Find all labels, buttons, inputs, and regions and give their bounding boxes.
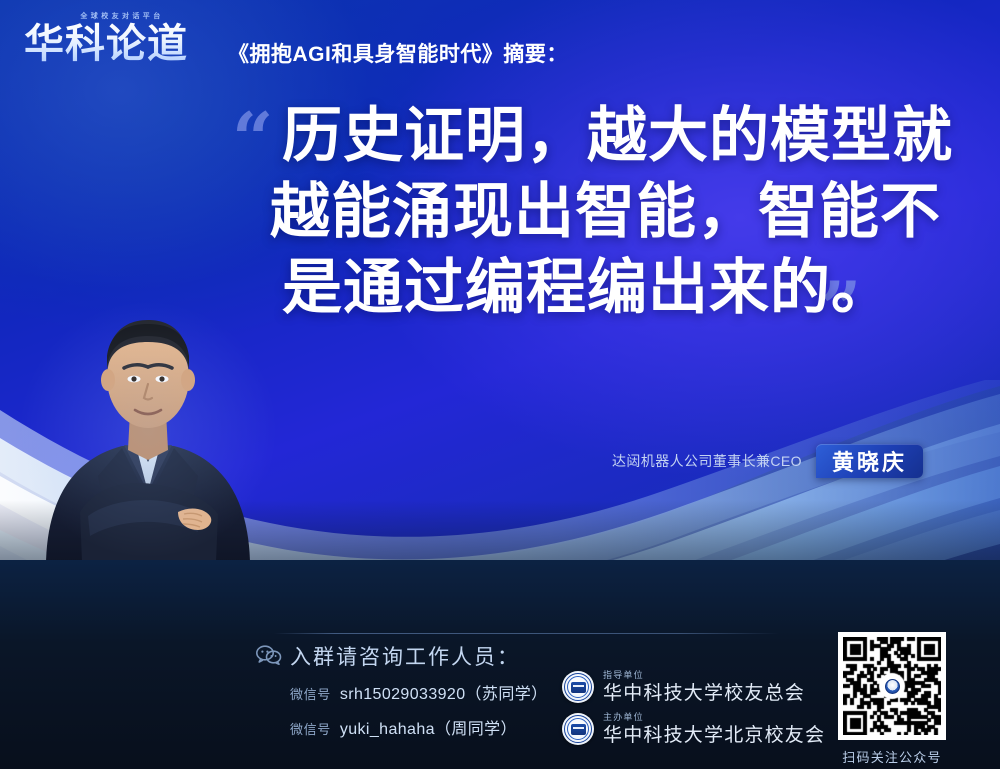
quote-line-2: 越能涌现出智能，智能不 bbox=[270, 174, 950, 250]
poster-root: 全球校友对话平台 华科论道 华科论道 《拥抱AGI和具身智能时代》摘要： “ ”… bbox=[0, 0, 1000, 769]
brand-logo[interactable]: 全球校友对话平台 华科论道 华科论道 bbox=[24, 11, 220, 73]
qr-section: 扫码关注公众号 bbox=[838, 632, 958, 766]
quote-open-mark: “ bbox=[232, 103, 273, 175]
wechat-entry-1: 微信号 srh15029033920（苏同学） bbox=[290, 680, 548, 704]
organizations: 指导单位 华中科技大学校友总会 主办单位 华中科技大学北京校友会 bbox=[562, 668, 825, 752]
hust-seal-icon bbox=[562, 713, 594, 745]
speaker-portrait bbox=[28, 300, 268, 560]
wechat-icon bbox=[256, 645, 282, 665]
qr-caption: 扫码关注公众号 bbox=[838, 747, 946, 766]
portrait-glow bbox=[8, 290, 288, 570]
qr-code[interactable] bbox=[838, 632, 946, 740]
organization-row: 指导单位 华中科技大学校友总会 bbox=[562, 668, 825, 706]
logo-text: 华科论道 bbox=[24, 21, 220, 67]
hust-seal-icon bbox=[562, 671, 594, 703]
page-title: 《拥抱AGI和具身智能时代》摘要： bbox=[228, 38, 568, 68]
wechat-entry-2: 微信号 yuki_hahaha（周同学） bbox=[290, 715, 517, 739]
qr-center-logo bbox=[881, 675, 903, 697]
wechat-label-1: 微信号 bbox=[290, 684, 331, 703]
speaker-name: 黄晓庆 bbox=[832, 445, 907, 477]
quote-line-1: 历史证明，越大的模型就 bbox=[282, 98, 950, 174]
footer-divider bbox=[274, 633, 779, 634]
organization-row: 主办单位 华中科技大学北京校友会 bbox=[562, 710, 825, 748]
speaker-name-badge: 黄晓庆 bbox=[816, 444, 923, 478]
logo-tagline: 全球校友对话平台 bbox=[80, 11, 163, 21]
wechat-label-2: 微信号 bbox=[290, 719, 331, 738]
organization-kind: 指导单位 bbox=[603, 669, 805, 681]
attribution: 达闼机器人公司董事长兼CEO 黄晓庆 bbox=[612, 444, 923, 478]
quote-block: 历史证明，越大的模型就 越能涌现出智能，智能不 是通过编程编出来的。 bbox=[270, 98, 950, 326]
organization-kind: 主办单位 bbox=[603, 711, 825, 723]
contact-heading: 入群请咨询工作人员： bbox=[290, 641, 520, 671]
organization-name: 华中科技大学北京校友会 bbox=[603, 724, 825, 747]
quote-line-3: 是通过编程编出来的。 bbox=[282, 250, 950, 326]
wechat-value-2: yuki_hahaha（周同学） bbox=[340, 715, 517, 739]
organization-name: 华中科技大学校友总会 bbox=[603, 682, 805, 705]
header: 全球校友对话平台 华科论道 华科论道 《拥抱AGI和具身智能时代》摘要： bbox=[0, 0, 1000, 88]
wechat-value-1: srh15029033920（苏同学） bbox=[340, 680, 548, 704]
speaker-role: 达闼机器人公司董事长兼CEO bbox=[612, 451, 802, 471]
